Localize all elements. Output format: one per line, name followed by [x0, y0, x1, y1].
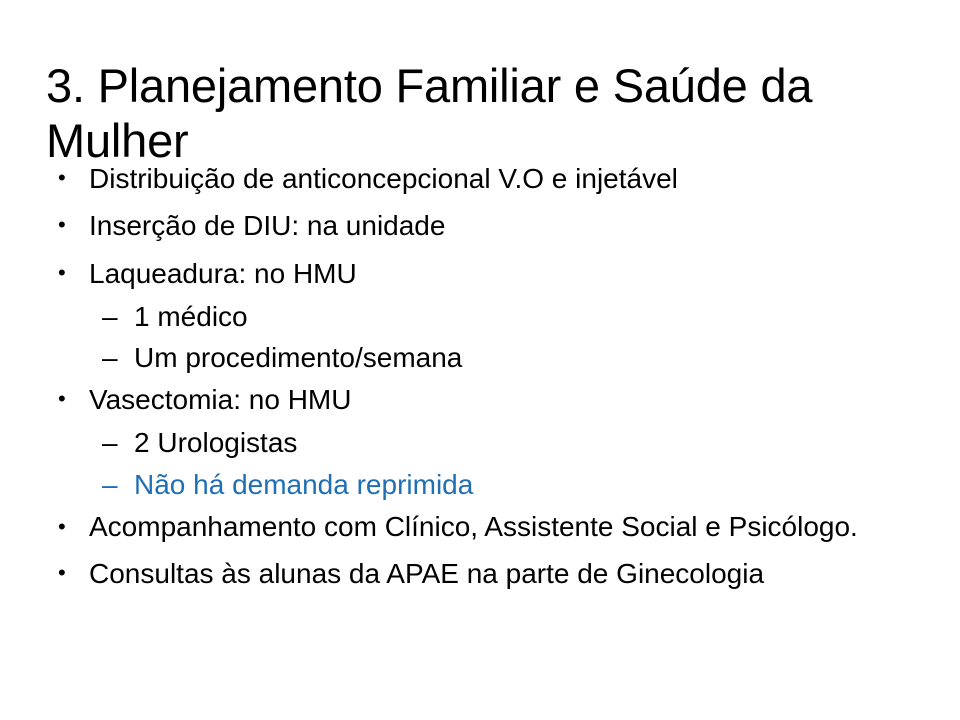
page-title: 3. Planejamento Familiar e Saúde da Mulh…: [46, 59, 926, 169]
sub-list-item-label: 2 Urologistas: [134, 427, 936, 458]
list-item: • Distribuição de anticoncepcional V.O e…: [46, 163, 936, 194]
list-item-label: Inserção de DIU: na unidade: [89, 210, 936, 241]
list-item-label: Consultas às alunas da APAE na parte de …: [89, 558, 936, 589]
sub-list-item-label: Não há demanda reprimida: [134, 469, 936, 500]
sub-list-item-label: Um procedimento/semana: [134, 342, 936, 373]
list-item: • Vasectomia: no HMU: [46, 384, 936, 415]
list-item-label: Vasectomia: no HMU: [89, 384, 936, 415]
bullet-marker-icon: •: [58, 258, 89, 288]
bullet-marker-icon: •: [58, 512, 89, 542]
list-item-label: Distribuição de anticoncepcional V.O e i…: [89, 163, 936, 194]
list-item: • Acompanhamento com Clínico, Assistente…: [46, 512, 936, 542]
bullet-marker-icon: •: [58, 210, 89, 240]
sub-list-item: – Um procedimento/semana: [46, 342, 936, 373]
list-item: • Laqueadura: no HMU: [46, 258, 936, 289]
dash-marker-icon: –: [102, 427, 134, 458]
sub-list-item: – 1 médico: [46, 301, 936, 332]
presentation-slide: 3. Planejamento Familiar e Saúde da Mulh…: [0, 0, 960, 720]
sub-list-item-highlighted: – Não há demanda reprimida: [46, 469, 936, 500]
list-item: • Inserção de DIU: na unidade: [46, 210, 936, 241]
sub-list-item: – 2 Urologistas: [46, 427, 936, 458]
dash-marker-icon: –: [102, 469, 134, 500]
bullet-marker-icon: •: [58, 384, 89, 414]
list-item-label: Acompanhamento com Clínico, Assistente S…: [89, 512, 936, 542]
bullet-marker-icon: •: [58, 558, 89, 588]
bullet-list: • Distribuição de anticoncepcional V.O e…: [46, 163, 936, 605]
dash-marker-icon: –: [102, 342, 134, 373]
sub-list-item-label: 1 médico: [134, 301, 936, 332]
list-item: • Consultas às alunas da APAE na parte d…: [46, 558, 936, 589]
list-item-label: Laqueadura: no HMU: [89, 258, 936, 289]
dash-marker-icon: –: [102, 301, 134, 332]
bullet-marker-icon: •: [58, 163, 89, 193]
